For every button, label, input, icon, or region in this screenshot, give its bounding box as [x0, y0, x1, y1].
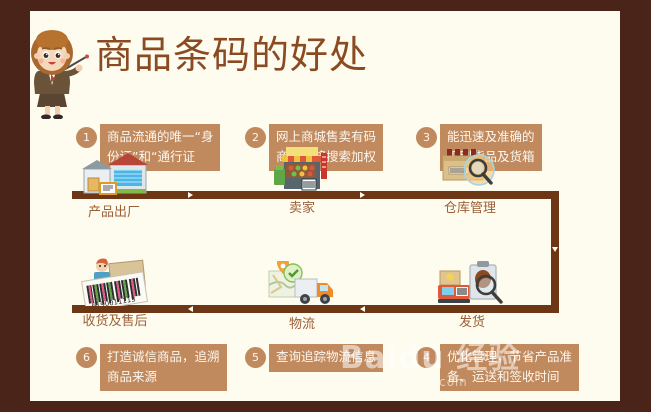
- callout-line: 查询追踪物流信息: [276, 347, 376, 367]
- callout-4[interactable]: 4 优化管理，节省产品准 备、运送和签收时间: [416, 344, 579, 391]
- arrow-left-1-icon: [360, 306, 365, 312]
- callout-line: 打造诚信商品，追溯: [107, 347, 220, 367]
- pipe-right: [551, 191, 559, 313]
- arrow-right-1-icon: [188, 192, 193, 198]
- arrow-right-2-icon: [360, 192, 365, 198]
- callout-text: 优化管理，节省产品准 备、运送和签收时间: [440, 344, 579, 391]
- stage-label: 物流: [252, 313, 352, 332]
- shipping-scan-icon: [422, 261, 522, 307]
- shop-icon: [252, 147, 352, 193]
- callout-text: 查询追踪物流信息: [269, 344, 383, 372]
- stage-label: 发货: [422, 311, 522, 330]
- callout-badge: 4: [416, 347, 437, 368]
- page-title: 商品条码的好处: [95, 33, 368, 77]
- stage-label: 收货及售后: [60, 310, 170, 329]
- stage-label: 仓库管理: [418, 197, 522, 216]
- callout-line: 备、运送和签收时间: [447, 367, 572, 387]
- stage-shipping[interactable]: 发货: [422, 261, 522, 330]
- callout-badge: 1: [76, 127, 97, 148]
- stage-warehouse[interactable]: 仓库管理: [418, 147, 522, 216]
- callout-badge: 5: [245, 347, 266, 368]
- barcode-receipt-icon: 6190011113: [60, 260, 170, 306]
- callout-badge: 2: [245, 127, 266, 148]
- stage-logistics[interactable]: 物流: [252, 263, 352, 332]
- callout-line: 优化管理，节省产品准: [447, 347, 572, 367]
- stage-factory[interactable]: 产品出厂: [64, 151, 164, 220]
- callout-line: 商品来源: [107, 367, 220, 387]
- arrow-down-icon: [552, 247, 558, 252]
- callout-text: 打造诚信商品，追溯 商品来源: [100, 344, 227, 391]
- callout-5[interactable]: 5 查询追踪物流信息: [245, 344, 383, 372]
- stage-label: 产品出厂: [64, 201, 164, 220]
- delivery-truck-icon: [252, 263, 352, 309]
- stage-receive[interactable]: 6190011113 收货及售后: [60, 260, 170, 329]
- callout-line: 商品流通的唯一“身: [107, 127, 213, 147]
- callout-6[interactable]: 6 打造诚信商品，追溯 商品来源: [76, 344, 227, 391]
- arrow-left-2-icon: [188, 306, 193, 312]
- stage-label: 卖家: [252, 197, 352, 216]
- factory-icon: [64, 151, 164, 197]
- warehouse-scan-icon: [418, 147, 522, 193]
- slide-canvas: 商品条码的好处 1 商品流通的唯一“身 份证”和“通行证 2 网上商城售卖有码 …: [30, 11, 620, 401]
- callout-badge: 6: [76, 347, 97, 368]
- teacher-character-icon: [30, 27, 92, 119]
- stage-seller[interactable]: 卖家: [252, 147, 352, 216]
